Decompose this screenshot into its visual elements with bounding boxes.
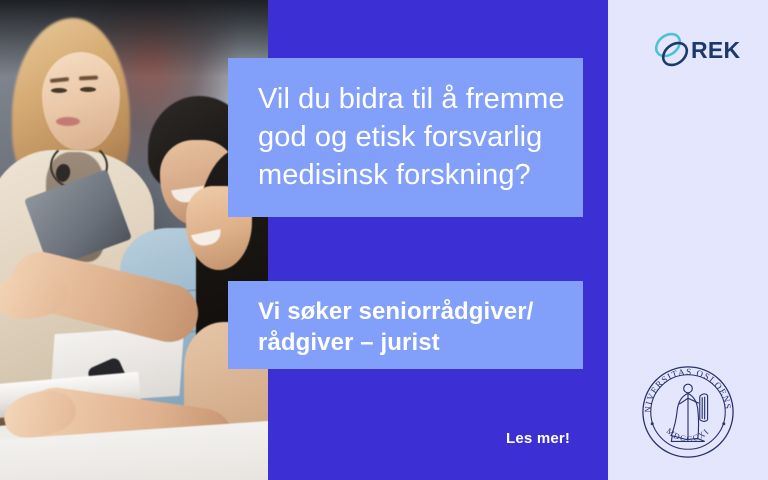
rek-interlocking-ellipses-icon bbox=[650, 28, 694, 72]
photo-woman-eye-left bbox=[51, 88, 67, 93]
rek-wordmark: REK bbox=[691, 37, 740, 64]
photo-woman-face bbox=[42, 52, 120, 150]
photo-woman-lips bbox=[56, 117, 80, 126]
job-title-line-2: rådgiver – jurist bbox=[258, 327, 557, 358]
job-title-line-1: Vi søker seniorrådgiver/ bbox=[258, 296, 557, 327]
uio-seal-ring-text: UNIVERSITAS OSLOENSIS bbox=[639, 363, 733, 413]
headline-line-2: god og etisk forsvarlig bbox=[258, 118, 557, 156]
uio-seal-icon: UNIVERSITAS OSLOENSIS MDCCCXI bbox=[639, 363, 737, 461]
headline-line-3: medisinsk forskning? bbox=[258, 156, 557, 194]
job-title-card: Vi søker seniorrådgiver/ rådgiver – juri… bbox=[228, 281, 583, 369]
job-advert-banner: Vil du bidra til å fremme god og etisk f… bbox=[0, 0, 768, 480]
read-more-link[interactable]: Les mer! bbox=[506, 430, 570, 447]
headline-card: Vil du bidra til å fremme god og etisk f… bbox=[228, 58, 583, 217]
photo-woman-eye-right bbox=[80, 87, 96, 92]
rek-logo[interactable]: REK bbox=[650, 28, 740, 72]
headline-line-1: Vil du bidra til å fremme bbox=[258, 80, 557, 118]
